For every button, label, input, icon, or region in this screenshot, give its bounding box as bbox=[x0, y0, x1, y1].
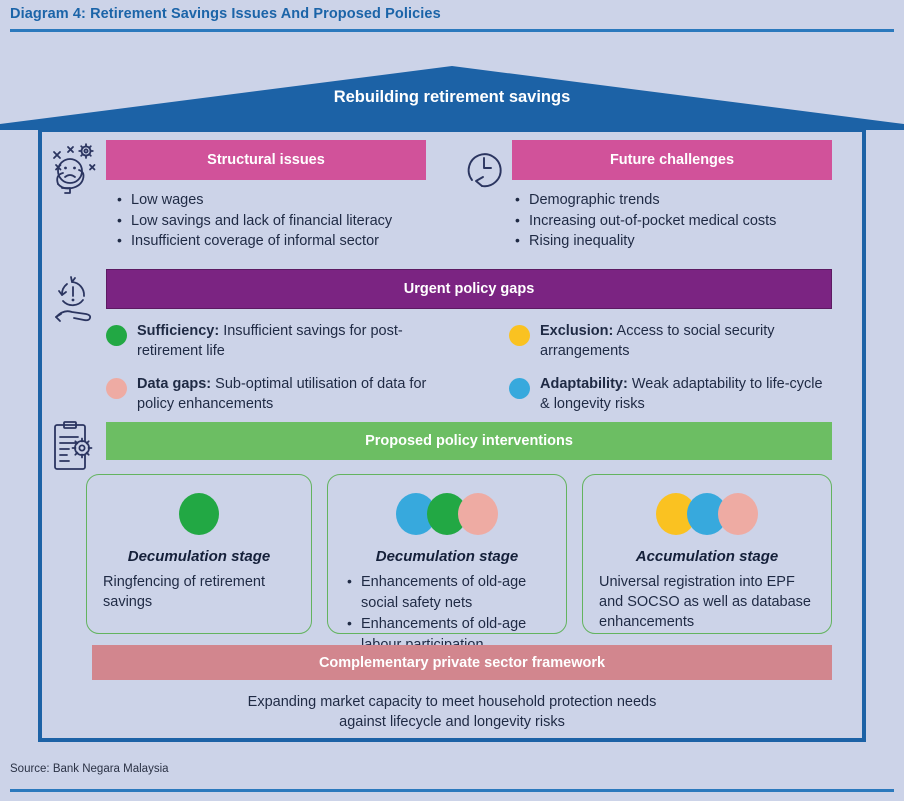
list-item: Low savings and lack of financial litera… bbox=[114, 211, 454, 232]
circle-green bbox=[179, 493, 219, 535]
circle-pink bbox=[458, 493, 498, 535]
policy-gap-adaptability: Adaptability: Weak adaptability to life-… bbox=[509, 375, 835, 414]
complementary-framework-text: Expanding market capacity to meet househ… bbox=[42, 692, 862, 732]
policy-gap-exclusion: Exclusion: Access to social security arr… bbox=[509, 322, 835, 361]
diagram-header: Diagram 4: Retirement Savings Issues And… bbox=[10, 6, 894, 32]
future-challenges-list: Demographic trends Increasing out-of-poc… bbox=[512, 190, 842, 252]
policy-gap-label: Exclusion: bbox=[540, 323, 613, 339]
structural-issues-banner: Structural issues bbox=[106, 140, 426, 180]
list-item: Low wages bbox=[114, 190, 454, 211]
card-title: Decumulation stage bbox=[328, 548, 566, 565]
intervention-card-3[interactable]: Accumulation stage Universal registratio… bbox=[582, 474, 832, 634]
policy-gap-text: Sufficiency: Insufficient savings for po… bbox=[137, 322, 432, 361]
card-body: Enhancements of old-age social safety ne… bbox=[344, 572, 552, 655]
worried-person-icon bbox=[48, 140, 102, 198]
list-item: Enhancements of old-age social safety ne… bbox=[344, 572, 552, 613]
policy-gap-text: Exclusion: Access to social security arr… bbox=[540, 322, 835, 361]
complementary-line-2: against lifecycle and longevity risks bbox=[42, 712, 862, 732]
policy-gap-text: Adaptability: Weak adaptability to life-… bbox=[540, 375, 835, 414]
structural-issues-list: Low wages Low savings and lack of financ… bbox=[114, 190, 454, 252]
list-item: Increasing out-of-pocket medical costs bbox=[512, 211, 842, 232]
policy-gap-label: Adaptability: bbox=[540, 376, 628, 392]
clock-rotate-icon bbox=[460, 144, 508, 192]
list-item: Rising inequality bbox=[512, 231, 842, 252]
complementary-line-1: Expanding market capacity to meet househ… bbox=[42, 692, 862, 712]
status-dot-yellow bbox=[509, 325, 530, 346]
policy-gap-text: Data gaps: Sub-optimal utilisation of da… bbox=[137, 375, 432, 414]
policy-gap-sufficiency: Sufficiency: Insufficient savings for po… bbox=[106, 322, 432, 361]
card-circle-group bbox=[87, 491, 311, 537]
status-dot-green bbox=[106, 325, 127, 346]
house-diagram: Rebuilding retirement savings bbox=[0, 58, 904, 750]
source-note: Source: Bank Negara Malaysia bbox=[10, 763, 169, 775]
alert-hand-icon bbox=[50, 265, 100, 325]
card-body: Ringfencing of retirement savings bbox=[103, 572, 297, 612]
list-item: Demographic trends bbox=[512, 190, 842, 211]
complementary-framework-banner: Complementary private sector framework bbox=[92, 645, 832, 680]
card-list: Enhancements of old-age social safety ne… bbox=[344, 572, 552, 655]
card-body: Universal registration into EPF and SOCS… bbox=[599, 572, 817, 632]
status-dot-blue bbox=[509, 378, 530, 399]
bottom-divider bbox=[10, 789, 894, 792]
page-title: Diagram 4: Retirement Savings Issues And… bbox=[10, 6, 894, 22]
card-circle-group bbox=[583, 491, 831, 537]
title-divider bbox=[10, 29, 894, 32]
card-title: Decumulation stage bbox=[87, 548, 311, 565]
policy-gap-label: Data gaps: bbox=[137, 376, 211, 392]
list-item: Insufficient coverage of informal sector bbox=[114, 231, 454, 252]
clipboard-gear-icon bbox=[50, 420, 98, 474]
card-title: Accumulation stage bbox=[583, 548, 831, 565]
intervention-card-1[interactable]: Decumulation stage Ringfencing of retire… bbox=[86, 474, 312, 634]
urgent-policy-gaps-banner: Urgent policy gaps bbox=[106, 269, 832, 309]
house-body: Structural issues Low wages Low savings … bbox=[38, 128, 866, 742]
intervention-card-2[interactable]: Decumulation stage Enhancements of old-a… bbox=[327, 474, 567, 634]
future-challenges-banner: Future challenges bbox=[512, 140, 832, 180]
policy-gap-label: Sufficiency: bbox=[137, 323, 219, 339]
card-circle-group bbox=[328, 491, 566, 537]
status-dot-pink bbox=[106, 378, 127, 399]
proposed-interventions-banner: Proposed policy interventions bbox=[106, 422, 832, 460]
circle-pink bbox=[718, 493, 758, 535]
policy-gap-data-gaps: Data gaps: Sub-optimal utilisation of da… bbox=[106, 375, 432, 414]
roof-shape bbox=[0, 58, 904, 130]
